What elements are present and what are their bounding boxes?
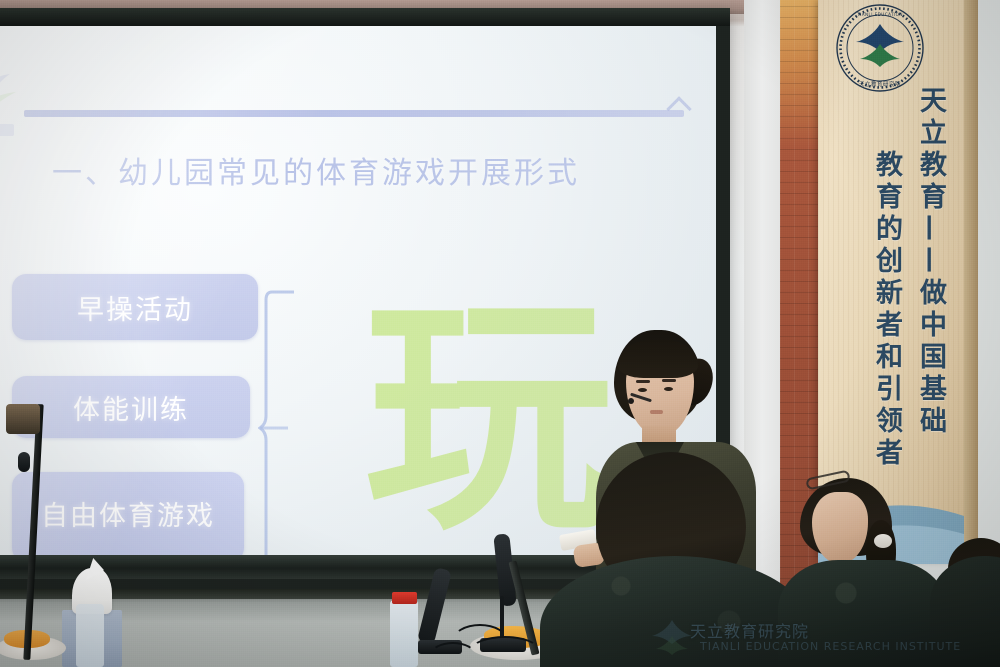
svg-text:TIANLI EDUCATION: TIANLI EDUCATION [856,12,903,17]
presenter-fringe [618,340,698,378]
microphone-cable-3 [430,642,476,667]
microphone-cable-2 [470,636,540,666]
hair-tie [874,534,892,548]
slide-header-rule [24,110,684,117]
water-bottle-center [390,600,418,667]
water-bottle-left [76,604,104,667]
microphone-clip-left [18,452,30,472]
tianli-seal-icon: TIANLI EDUCATION 天立教育研究院 [834,2,926,94]
svg-text:天立教育研究院: 天立教育研究院 [859,80,901,88]
slide-header-rule-tick [666,96,691,121]
presenter-brow-left [636,380,650,383]
projection-screen-top-bar [0,8,730,26]
slide-box-3: 自由体育游戏 [12,472,244,562]
slide-title: 一、幼儿园常见的体育游戏开展形式 [52,148,580,192]
presenter-eye-right [664,387,673,391]
watermark-subtext: TIANLI EDUCATION RESEARCH INSTITUTE [700,640,961,653]
presenter-brow-right [662,379,676,382]
screenshot-root: 一、幼儿园常见的体育游戏开展形式 玩 早操活动 体能训练 自由体育游戏 [0,0,1000,667]
slide-box-group: 早操活动 体能训练 自由体育游戏 [12,274,262,562]
curly-brace-icon [258,288,302,568]
slide-box-1: 早操活动 [12,274,258,340]
presenter-mouth [650,410,663,414]
watermark-text: 天立教育研究院 [690,618,809,642]
slide-corner-logo [0,60,38,138]
microphone-head-left [6,404,40,434]
headset-microphone-capsule [628,398,634,404]
watermark-logo-icon [650,616,694,656]
water-bottle-cap [392,592,417,604]
banner-column-right: 天立教育——做中国基础 [911,86,950,438]
slide-box-2: 体能训练 [12,376,250,438]
banner-column-left: 教育的创新者和引领者 [867,150,906,470]
presenter-eye-left [638,388,647,392]
banner-right-edge [964,0,978,560]
